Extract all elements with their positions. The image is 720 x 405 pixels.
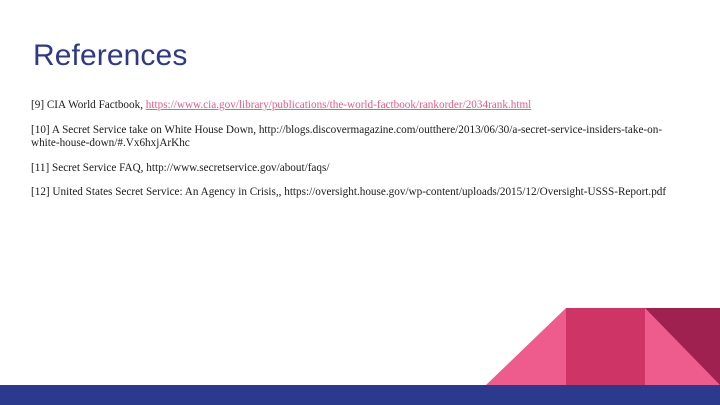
list-item: [10] A Secret Service take on White Hous… bbox=[31, 124, 686, 151]
reference-text-prefix: [11] Secret Service FAQ, http://www.secr… bbox=[31, 162, 329, 174]
decor-light-pink-triangle-icon bbox=[486, 308, 566, 385]
reference-list: [9] CIA World Factbook, https://www.cia.… bbox=[31, 99, 686, 200]
reference-text-prefix: [12] United States Secret Service: An Ag… bbox=[31, 186, 666, 198]
footer-bar bbox=[0, 385, 720, 405]
slide: References [9] CIA World Factbook, https… bbox=[0, 0, 720, 405]
decor-magenta-block-icon bbox=[566, 308, 645, 385]
page-title: References bbox=[33, 38, 187, 74]
list-item: [12] United States Secret Service: An Ag… bbox=[31, 186, 686, 200]
list-item: [9] CIA World Factbook, https://www.cia.… bbox=[31, 99, 686, 113]
list-item: [11] Secret Service FAQ, http://www.secr… bbox=[31, 162, 686, 176]
reference-text-prefix: [10] A Secret Service take on White Hous… bbox=[31, 124, 662, 150]
decor-light-pink-rect-icon bbox=[645, 308, 720, 385]
decor-maroon-triangle-icon bbox=[645, 308, 720, 385]
reference-text-prefix: [9] CIA World Factbook, bbox=[31, 99, 146, 111]
reference-hyperlink[interactable]: https://www.cia.gov/library/publications… bbox=[146, 99, 531, 111]
